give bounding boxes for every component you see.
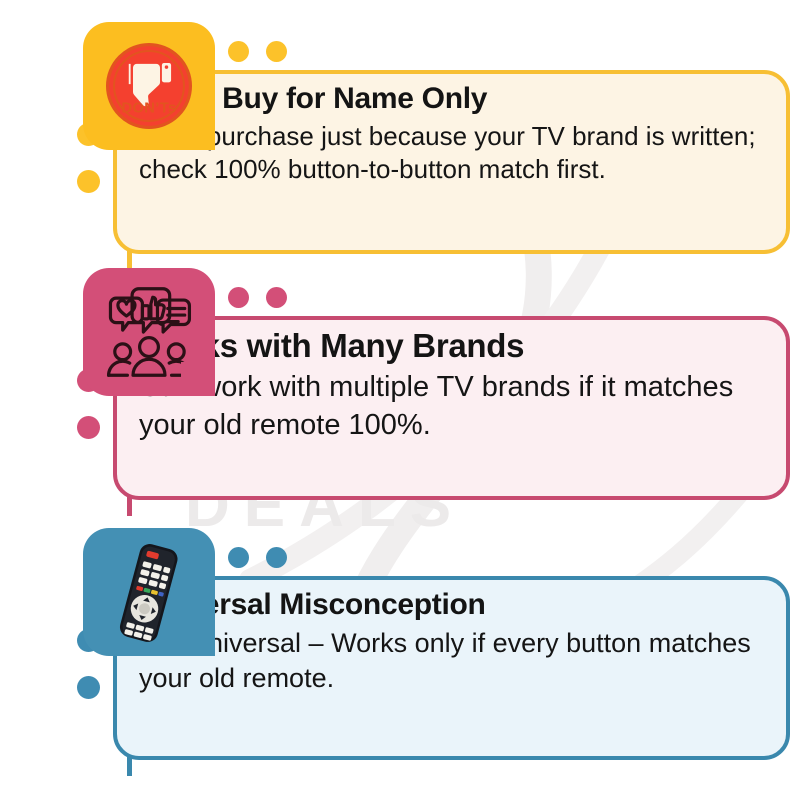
- tv-remote-icon: [93, 536, 205, 648]
- card-title: Works with Many Brands: [139, 328, 766, 365]
- social-engagement-icon: [97, 285, 201, 379]
- decor-dot: [228, 547, 249, 568]
- card-title: Universal Misconception: [139, 588, 766, 622]
- decor-dot: [266, 41, 287, 62]
- decor-dot: [77, 170, 100, 193]
- card-body-text: Don’t purchase just because your TV bran…: [139, 120, 766, 188]
- card-body-text: Can work with multiple TV brands if it m…: [139, 369, 766, 444]
- decor-dot: [77, 416, 100, 439]
- card-title: Don’t Buy for Name Only: [139, 82, 766, 116]
- donts-emblem: DON’Ts: [103, 40, 195, 132]
- card-badge[interactable]: DON’Ts: [83, 22, 215, 150]
- card-dont-buy-for-name-only[interactable]: Don’t Buy for Name Only Don’t purchase j…: [55, 22, 790, 254]
- thumbs-down-icon: DON’Ts: [103, 40, 195, 132]
- card-works-with-many-brands[interactable]: Works with Many Brands Can work with mul…: [55, 268, 790, 500]
- infographic-canvas: DEALS Don’t Buy for Name Only Don’t purc…: [0, 0, 800, 800]
- decor-dot: [77, 676, 100, 699]
- card-body-text: Not Universal – Works only if every butt…: [139, 626, 766, 696]
- card-badge[interactable]: [83, 268, 215, 396]
- svg-text:DON’Ts: DON’Ts: [121, 101, 176, 117]
- decor-dot: [228, 41, 249, 62]
- decor-dot: [266, 287, 287, 308]
- card-badge[interactable]: [83, 528, 215, 656]
- decor-dot: [228, 287, 249, 308]
- decor-dot: [266, 547, 287, 568]
- card-universal-misconception[interactable]: Universal Misconception Not Universal – …: [55, 528, 790, 760]
